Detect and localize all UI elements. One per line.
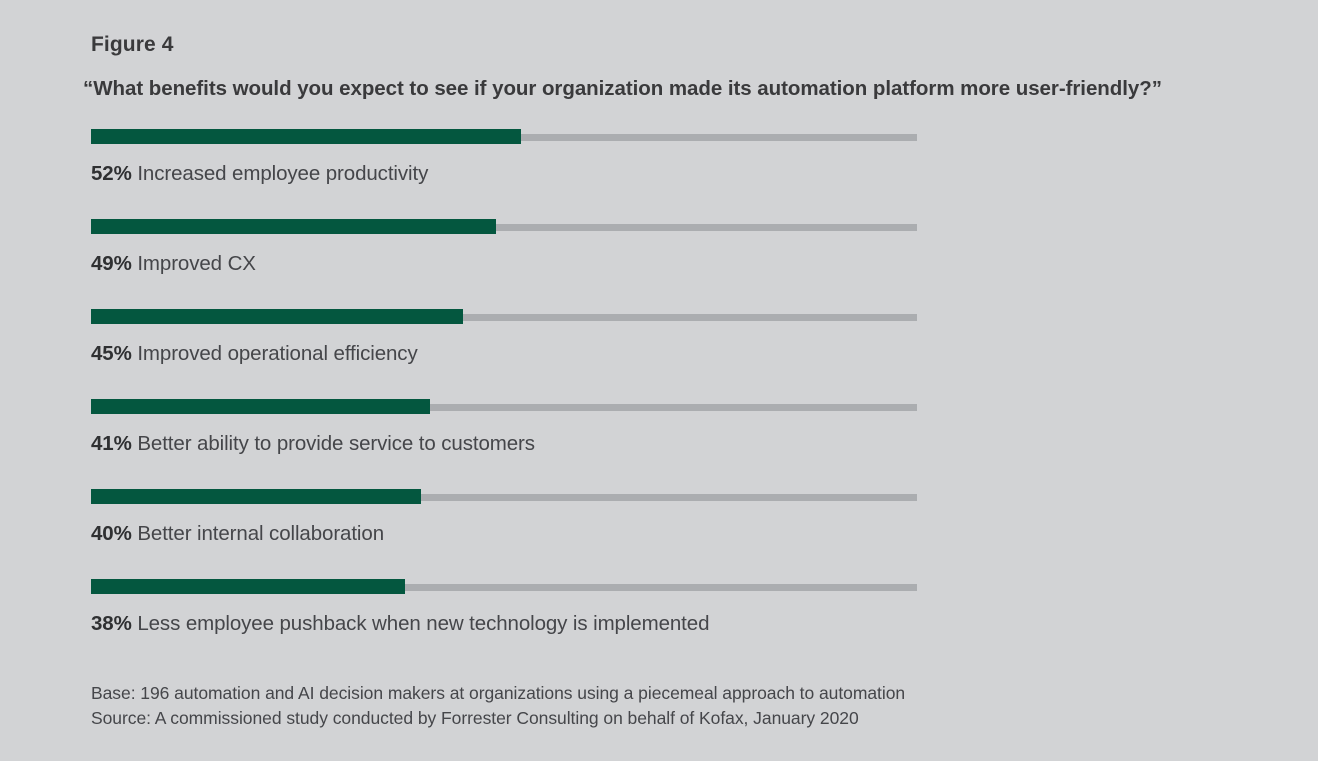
bar-category-label: Improved CX (132, 252, 256, 275)
bar-caption: 40% Better internal collaboration (91, 522, 384, 546)
figure-label: Figure 4 (91, 33, 173, 57)
bar-row: 49% Improved CX (0, 219, 1318, 309)
bar-value-label: 38% (91, 612, 132, 635)
bar-row: 41% Better ability to provide service to… (0, 399, 1318, 489)
bar-row: 52% Increased employee productivity (0, 129, 1318, 219)
bar-fill (91, 489, 421, 504)
bar-category-label: Improved operational efficiency (132, 342, 418, 365)
bar-row: 38% Less employee pushback when new tech… (0, 579, 1318, 669)
bar-row: 45% Improved operational efficiency (0, 309, 1318, 399)
figure-title: “What benefits would you expect to see i… (83, 77, 1162, 101)
bar-caption: 41% Better ability to provide service to… (91, 432, 535, 456)
footnote-source: Source: A commissioned study conducted b… (91, 706, 905, 731)
bar-value-label: 49% (91, 252, 132, 275)
bar-value-label: 41% (91, 432, 132, 455)
bar-row: 40% Better internal collaboration (0, 489, 1318, 579)
bar-fill (91, 579, 405, 594)
bar-category-label: Better ability to provide service to cus… (132, 432, 535, 455)
bar-category-label: Less employee pushback when new technolo… (132, 612, 710, 635)
bar-value-label: 40% (91, 522, 132, 545)
bar-fill (91, 129, 521, 144)
bar-fill (91, 219, 496, 234)
bar-value-label: 45% (91, 342, 132, 365)
bar-fill (91, 399, 430, 414)
footnote-base: Base: 196 automation and AI decision mak… (91, 681, 905, 706)
bar-fill (91, 309, 463, 324)
bar-caption: 49% Improved CX (91, 252, 256, 276)
bar-value-label: 52% (91, 162, 132, 185)
bar-category-label: Better internal collaboration (132, 522, 384, 545)
bar-caption: 52% Increased employee productivity (91, 162, 428, 186)
bar-category-label: Increased employee productivity (132, 162, 428, 185)
figure-footnote: Base: 196 automation and AI decision mak… (91, 681, 905, 731)
bar-caption: 38% Less employee pushback when new tech… (91, 612, 709, 636)
bar-caption: 45% Improved operational efficiency (91, 342, 418, 366)
bar-chart: 52% Increased employee productivity 49% … (0, 129, 1318, 669)
figure-container: Figure 4 “What benefits would you expect… (0, 0, 1318, 761)
